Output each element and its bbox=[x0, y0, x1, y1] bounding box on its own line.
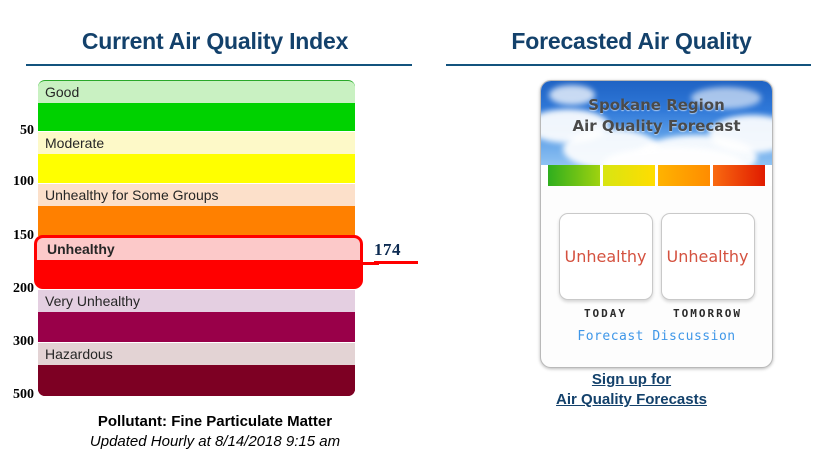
aqi-band-unhealthy-some-groups: Unhealthy for Some Groups bbox=[38, 184, 355, 236]
aqi-band-hazardous-fill bbox=[38, 365, 355, 396]
aqi-current-value: 174 bbox=[374, 240, 418, 260]
axis-tick-200: 200 bbox=[0, 281, 34, 297]
forecast-card-tomorrow[interactable]: Unhealthy bbox=[661, 213, 755, 300]
aqi-band-moderate-label: Moderate bbox=[38, 132, 355, 154]
aqi-band-usg-label: Unhealthy for Some Groups bbox=[38, 184, 355, 206]
legend-segment-unhealthy bbox=[713, 165, 765, 186]
aqi-current-value-underline bbox=[374, 261, 418, 264]
aqi-band-moderate-fill bbox=[38, 154, 355, 183]
widget-heading: Spokane Region Air Quality Forecast bbox=[541, 95, 772, 137]
forecast-card-today[interactable]: Unhealthy bbox=[559, 213, 653, 300]
axis-tick-300: 300 bbox=[0, 334, 34, 350]
forecast-widget[interactable]: Spokane Region Air Quality Forecast Unhe… bbox=[540, 80, 773, 368]
forecast-value-today: Unhealthy bbox=[565, 247, 647, 266]
aqi-band-good-fill bbox=[38, 103, 355, 131]
aqi-axis: 50 100 150 200 300 500 bbox=[0, 80, 34, 396]
page-title-forecast: Forecasted Air Quality bbox=[430, 0, 833, 55]
aqi-band-good: Good bbox=[38, 80, 355, 131]
forecast-day-label-today: TODAY bbox=[559, 307, 653, 320]
axis-tick-100: 100 bbox=[0, 174, 34, 190]
widget-heading-line1: Spokane Region bbox=[541, 95, 772, 116]
forecast-value-tomorrow: Unhealthy bbox=[667, 247, 749, 266]
page-title-current-aqi: Current Air Quality Index bbox=[0, 0, 430, 55]
aqi-band-unhealthy-fill bbox=[37, 260, 360, 286]
signup-link[interactable]: Sign up for Air Quality Forecasts bbox=[430, 370, 833, 410]
aqi-band-moderate: Moderate bbox=[38, 132, 355, 183]
updated-timestamp: Updated Hourly at 8/14/2018 9:15 am bbox=[0, 433, 430, 450]
aqi-band-very-unhealthy-label: Very Unhealthy bbox=[38, 290, 355, 312]
forecast-day-label-tomorrow: TOMORROW bbox=[661, 307, 755, 320]
aqi-scale: Good Moderate Unhealthy for Some Groups … bbox=[38, 80, 355, 396]
axis-tick-50: 50 bbox=[0, 123, 34, 139]
legend-segment-good bbox=[548, 165, 600, 186]
axis-tick-500: 500 bbox=[0, 387, 34, 403]
aqi-band-hazardous-label: Hazardous bbox=[38, 343, 355, 365]
signup-link-line2: Air Quality Forecasts bbox=[430, 390, 833, 410]
title-divider-right bbox=[446, 64, 811, 66]
aqi-band-very-unhealthy: Very Unhealthy bbox=[38, 290, 355, 342]
forecast-day-labels: TODAY TOMORROW bbox=[541, 307, 772, 320]
aqi-band-unhealthy-label: Unhealthy bbox=[37, 238, 360, 260]
current-aqi-panel: Current Air Quality Index 50 100 150 200… bbox=[0, 0, 430, 461]
aqi-band-hazardous: Hazardous bbox=[38, 343, 355, 396]
aqi-current-value-marker: 174 bbox=[374, 240, 418, 264]
forecast-cards: Unhealthy Unhealthy bbox=[541, 213, 772, 300]
aqi-band-unhealthy-current: Unhealthy bbox=[34, 235, 363, 289]
signup-link-line1: Sign up for bbox=[430, 370, 833, 390]
forecast-discussion-link[interactable]: Forecast Discussion bbox=[541, 329, 772, 344]
aqi-band-good-label: Good bbox=[38, 81, 355, 103]
legend-segment-usg bbox=[658, 165, 710, 186]
sky-background: Spokane Region Air Quality Forecast bbox=[541, 81, 772, 165]
widget-heading-line2: Air Quality Forecast bbox=[541, 116, 772, 137]
legend-segment-moderate bbox=[603, 165, 655, 186]
pollutant-caption: Pollutant: Fine Particulate Matter bbox=[0, 413, 430, 430]
aqi-band-usg-fill bbox=[38, 206, 355, 236]
title-divider-left bbox=[26, 64, 412, 66]
forecast-panel: Forecasted Air Quality Spokane Region Ai… bbox=[430, 0, 833, 461]
aqi-band-very-unhealthy-fill bbox=[38, 312, 355, 342]
aqi-color-legend-bar bbox=[541, 165, 772, 186]
axis-tick-150: 150 bbox=[0, 228, 34, 244]
